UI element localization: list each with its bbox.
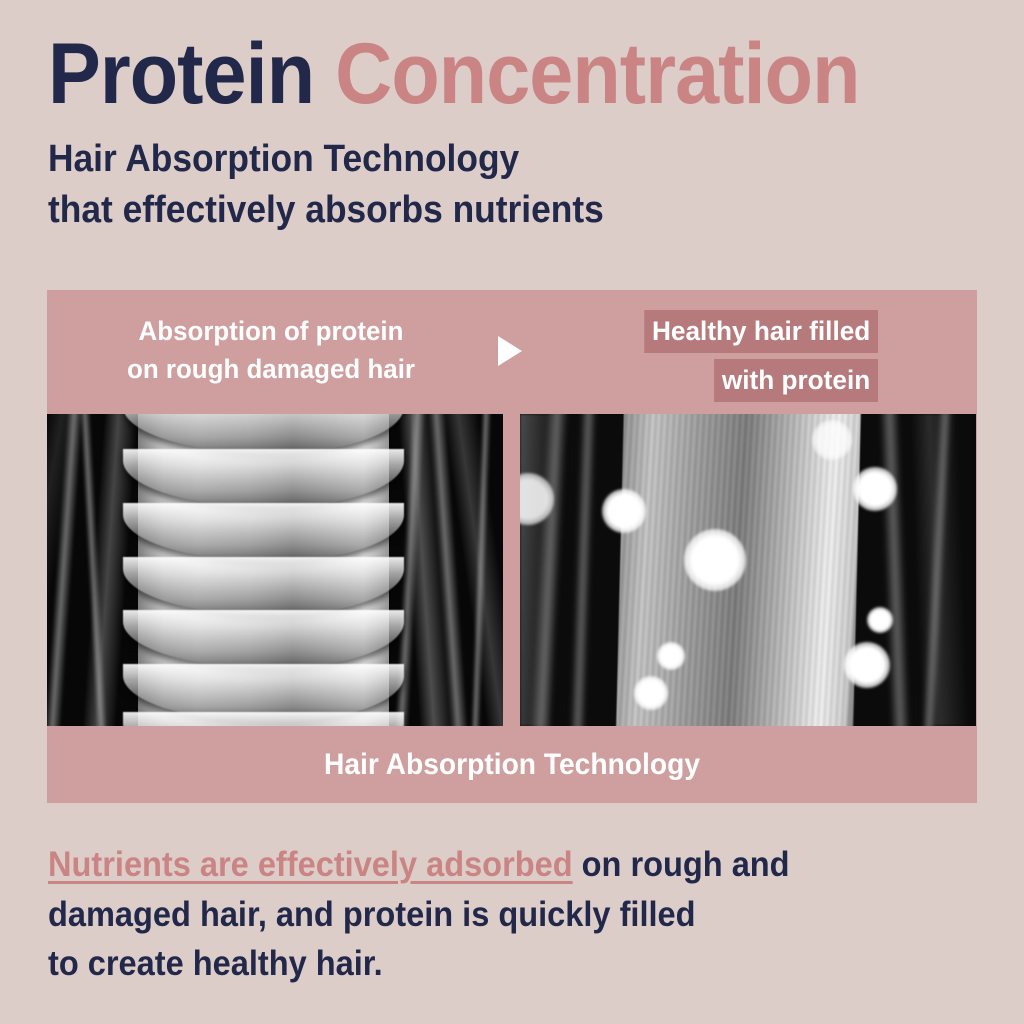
caption-left: Absorption of protein on rough damaged h… (69, 312, 472, 389)
protein-bokeh-dot (602, 489, 646, 533)
protein-bokeh-dot (867, 607, 893, 633)
body-copy-line-2: damaged hair, and protein is quickly fil… (48, 890, 904, 940)
page-subtitle: Hair Absorption Technology that effectiv… (48, 134, 922, 237)
body-copy-line-3: to create healthy hair. (48, 939, 904, 989)
figure-footer: Hair Absorption Technology (47, 726, 977, 803)
sem-cuticle-scale (123, 712, 404, 726)
page-title-part-concentration: Concentration (335, 26, 859, 122)
caption-right: Healthy hair filled with protein (637, 310, 878, 408)
sem-cuticle-scale (123, 414, 404, 453)
caption-left-line-1: Absorption of protein (69, 312, 472, 350)
figure-footer-label: Hair Absorption Technology (324, 748, 700, 782)
sem-cuticle-scale (123, 503, 404, 561)
caption-right-line-2: with protein (714, 359, 878, 402)
page-title-part-protein: Protein (48, 26, 335, 122)
page-subtitle-line-2: that effectively absorbs nutrients (48, 185, 922, 236)
protein-bokeh-dot (812, 420, 852, 460)
header: Protein Concentration Hair Absorption Te… (48, 34, 988, 236)
sem-cuticle-scale (123, 610, 404, 668)
body-copy-line-1: Nutrients are effectively adsorbed on ro… (48, 840, 904, 890)
page-subtitle-line-1: Hair Absorption Technology (48, 134, 922, 185)
protein-bokeh-dot (844, 642, 890, 688)
sem-hair-shaft (138, 414, 389, 726)
damaged-hair-photo (47, 414, 503, 726)
play-triangle-right-icon (498, 336, 522, 366)
caption-right-line-1: Healthy hair filled (644, 310, 878, 353)
sem-cuticle-scale (123, 557, 404, 615)
body-copy: Nutrients are effectively adsorbed on ro… (48, 840, 904, 989)
figure-panel: Absorption of protein on rough damaged h… (47, 290, 977, 803)
page-title: Protein Concentration (48, 34, 913, 116)
body-copy-line-1-rest: on rough and (573, 845, 790, 884)
caption-left-line-2: on rough damaged hair (69, 350, 472, 388)
sem-cuticle-scale (123, 449, 404, 507)
protein-bokeh-dot (634, 676, 668, 710)
figure-photos (47, 414, 977, 726)
caption-right-wrap-2: with protein (637, 359, 878, 408)
body-copy-highlight: Nutrients are effectively adsorbed (48, 845, 573, 884)
caption-right-wrap-1: Healthy hair filled (637, 310, 878, 359)
figure-captions: Absorption of protein on rough damaged h… (47, 290, 977, 414)
protein-bokeh-dot (657, 642, 685, 670)
healthy-hair-photo (520, 414, 976, 726)
protein-bokeh-dot (853, 467, 897, 511)
